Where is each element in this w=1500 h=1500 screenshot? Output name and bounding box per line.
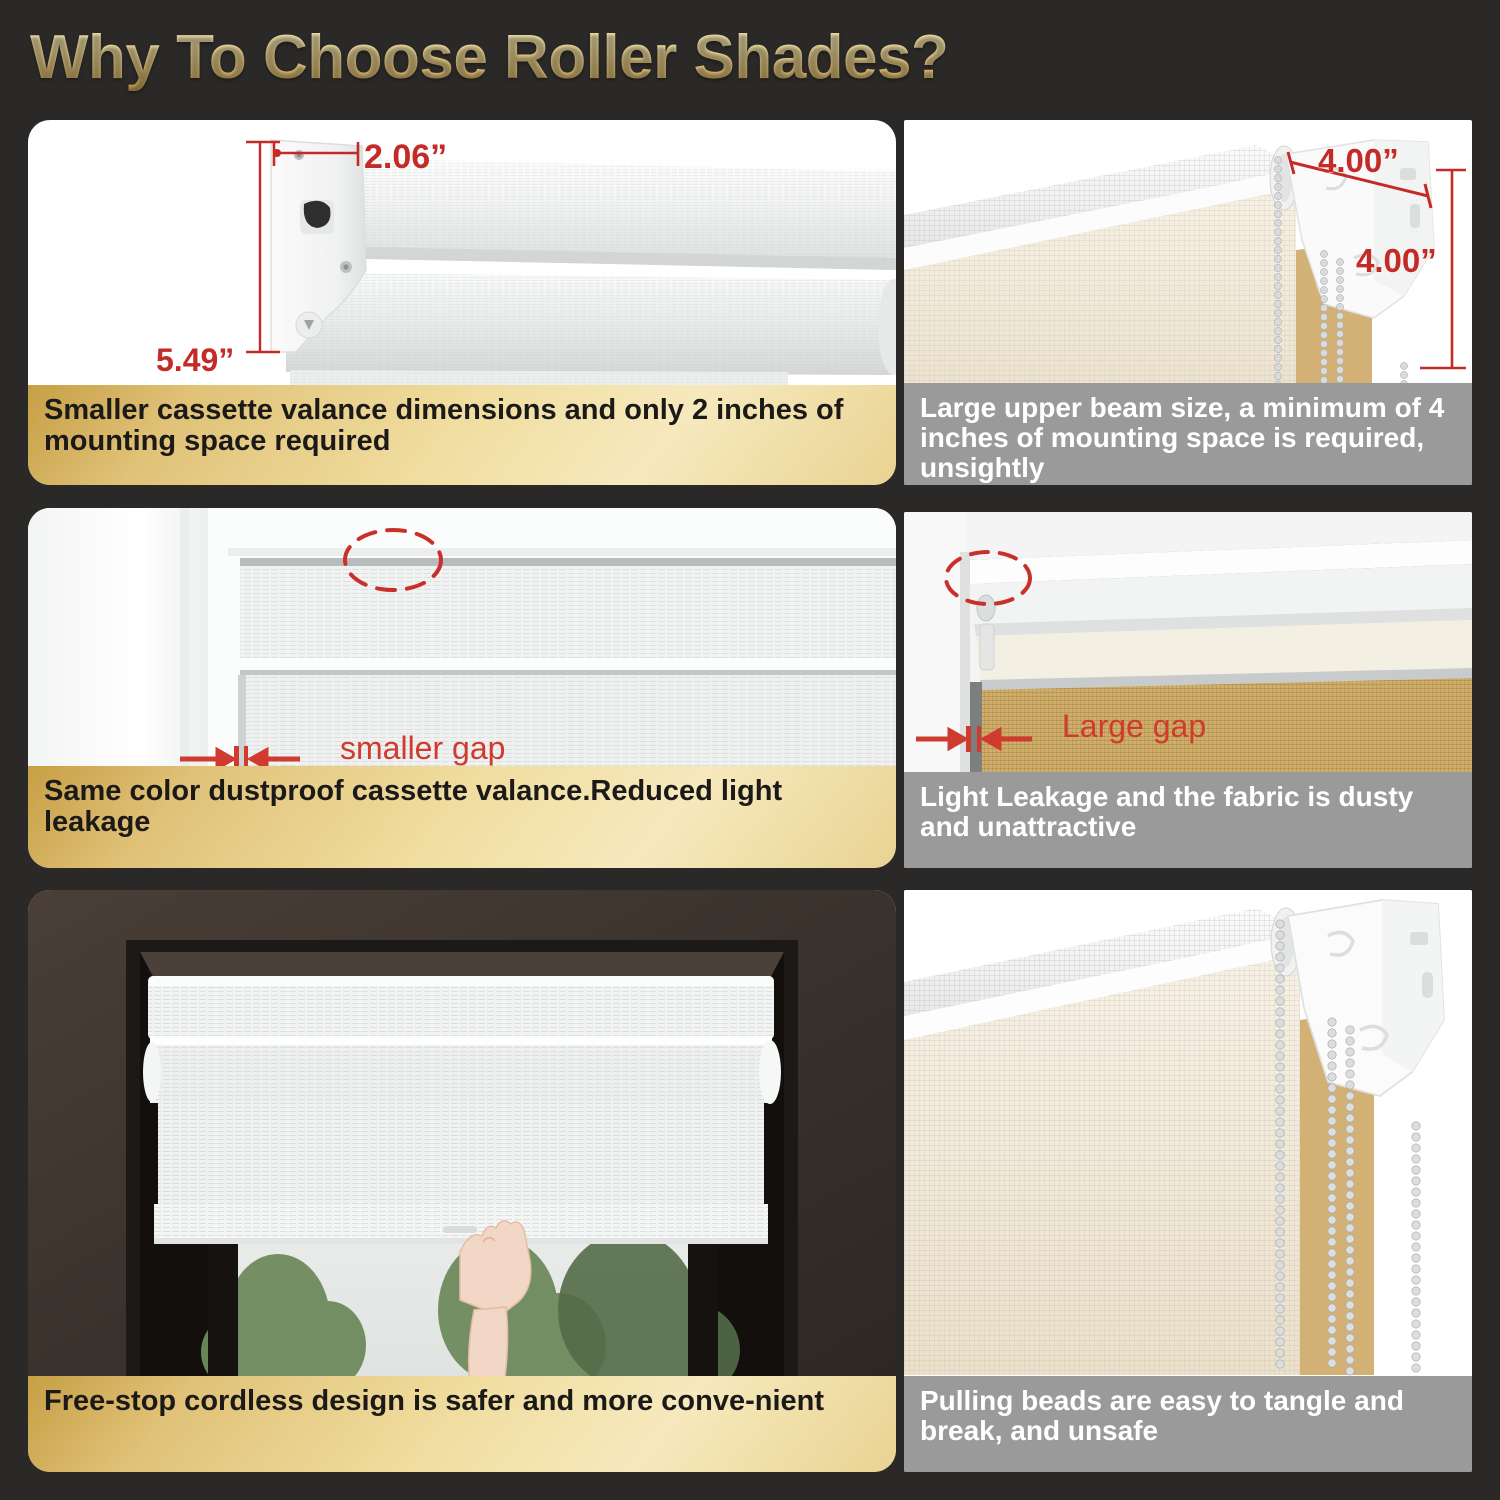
caption-middle-left: Same color dustproof cassette valance.Re… [28, 766, 896, 868]
panel-middle-right: Large gap Light Leakage and the fabric i… [904, 512, 1472, 868]
dimension-label-width: 2.06” [364, 138, 447, 177]
panel-middle-left: smaller gap Same color dustproof cassett… [28, 508, 896, 868]
panel-bottom-left: Free-stop cordless design is safer and m… [28, 890, 896, 1472]
panel-top-left: 2.06” 5.49” Smaller cassette valance dim… [28, 120, 896, 485]
caption-top-right: Large upper beam size, a minimum of 4 in… [904, 383, 1472, 485]
caption-top-left: Smaller cassette valance dimensions and … [28, 385, 896, 485]
cordless-window-scene [28, 890, 896, 1385]
panel-bottom-right: Pulling beads are easy to tangle and bre… [904, 890, 1472, 1472]
bead-chain-shade-illustration [904, 890, 1472, 1375]
header: Why To Choose Roller Shades? [0, 0, 1500, 112]
caption-bottom-left: Free-stop cordless design is safer and m… [28, 1376, 896, 1472]
panel-top-right: 4.00” 4.00” Large upper beam size, a min… [904, 120, 1472, 485]
caption-middle-right: Light Leakage and the fabric is dusty an… [904, 772, 1472, 868]
dimension-label-height: 4.00” [1356, 242, 1437, 280]
gap-callout-label: Large gap [1062, 708, 1206, 745]
dimension-label-width: 4.00” [1318, 142, 1399, 180]
caption-bottom-right: Pulling beads are easy to tangle and bre… [904, 1376, 1472, 1472]
dimension-label-height: 5.49” [156, 342, 234, 379]
page-title: Why To Choose Roller Shades? [30, 22, 948, 93]
gap-callout-label: smaller gap [340, 730, 505, 767]
